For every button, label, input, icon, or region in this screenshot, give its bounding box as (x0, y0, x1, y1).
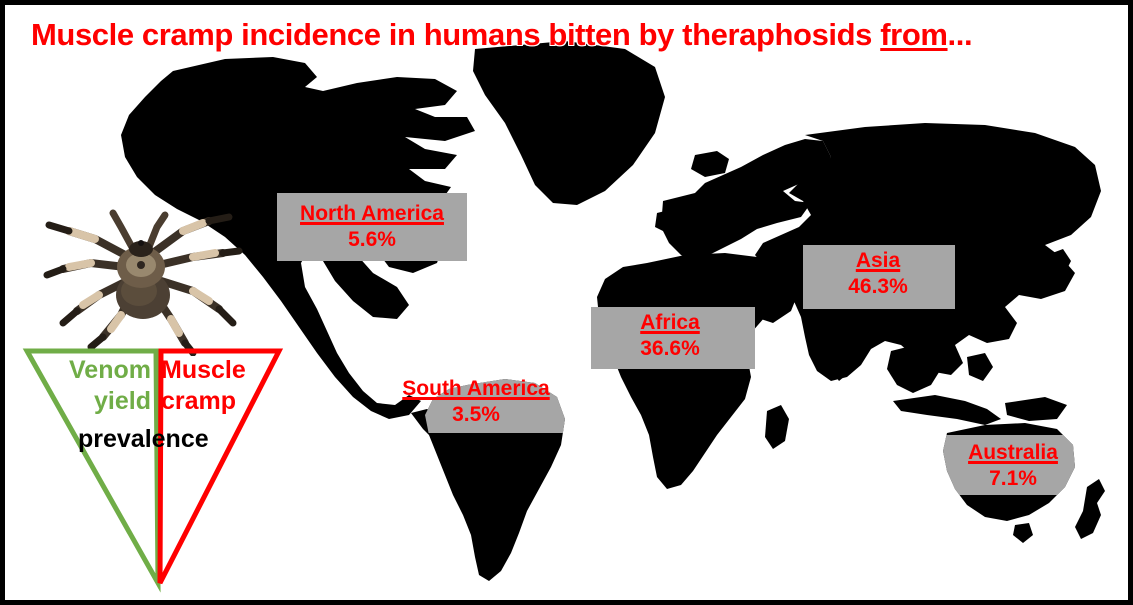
legend-venom-line2: yield (94, 387, 151, 415)
region-value-north-america: 5.6% (287, 229, 457, 252)
tarantula-fovea (137, 261, 145, 269)
region-label-asia[interactable]: Asia 46.3% (813, 250, 943, 298)
region-label-north-america[interactable]: North America 5.6% (287, 203, 457, 251)
region-name-asia: Asia (856, 250, 900, 273)
title-underlined-word: from (880, 17, 947, 52)
legend-prevalence-label: prevalence (78, 425, 209, 454)
region-value-asia: 46.3% (813, 276, 943, 299)
region-name-africa: Africa (640, 312, 700, 335)
legend-cramp-line2: cramp (161, 387, 236, 415)
title-main-text: Muscle cramp incidence in humans bitten … (31, 17, 880, 52)
region-value-australia: 7.1% (949, 468, 1077, 491)
gradient-triangle-legend: Venom yield Muscle cramp prevalence (15, 341, 290, 596)
title-ellipsis: ... (948, 17, 973, 52)
region-value-africa: 36.6% (601, 338, 739, 361)
tarantula-eyes (138, 240, 144, 246)
region-name-australia: Australia (968, 442, 1058, 465)
legend-muscle-cramp-label: Muscle cramp (161, 355, 273, 416)
tarantula-svg (33, 191, 248, 356)
region-name-south-america: South America (402, 378, 549, 401)
region-value-south-america: 3.5% (393, 404, 559, 427)
page-title: Muscle cramp incidence in humans bitten … (31, 19, 1101, 52)
poster-canvas: Muscle cramp incidence in humans bitten … (0, 0, 1133, 605)
tarantula-image (33, 191, 248, 356)
region-name-north-america: North America (300, 203, 444, 226)
legend-cramp-line1: Muscle (161, 356, 246, 384)
region-label-south-america[interactable]: South America 3.5% (393, 378, 559, 426)
region-label-australia[interactable]: Australia 7.1% (949, 442, 1077, 490)
region-label-africa[interactable]: Africa 36.6% (601, 312, 739, 360)
legend-venom-yield-label: Venom yield (47, 355, 151, 416)
legend-venom-line1: Venom (69, 356, 151, 384)
